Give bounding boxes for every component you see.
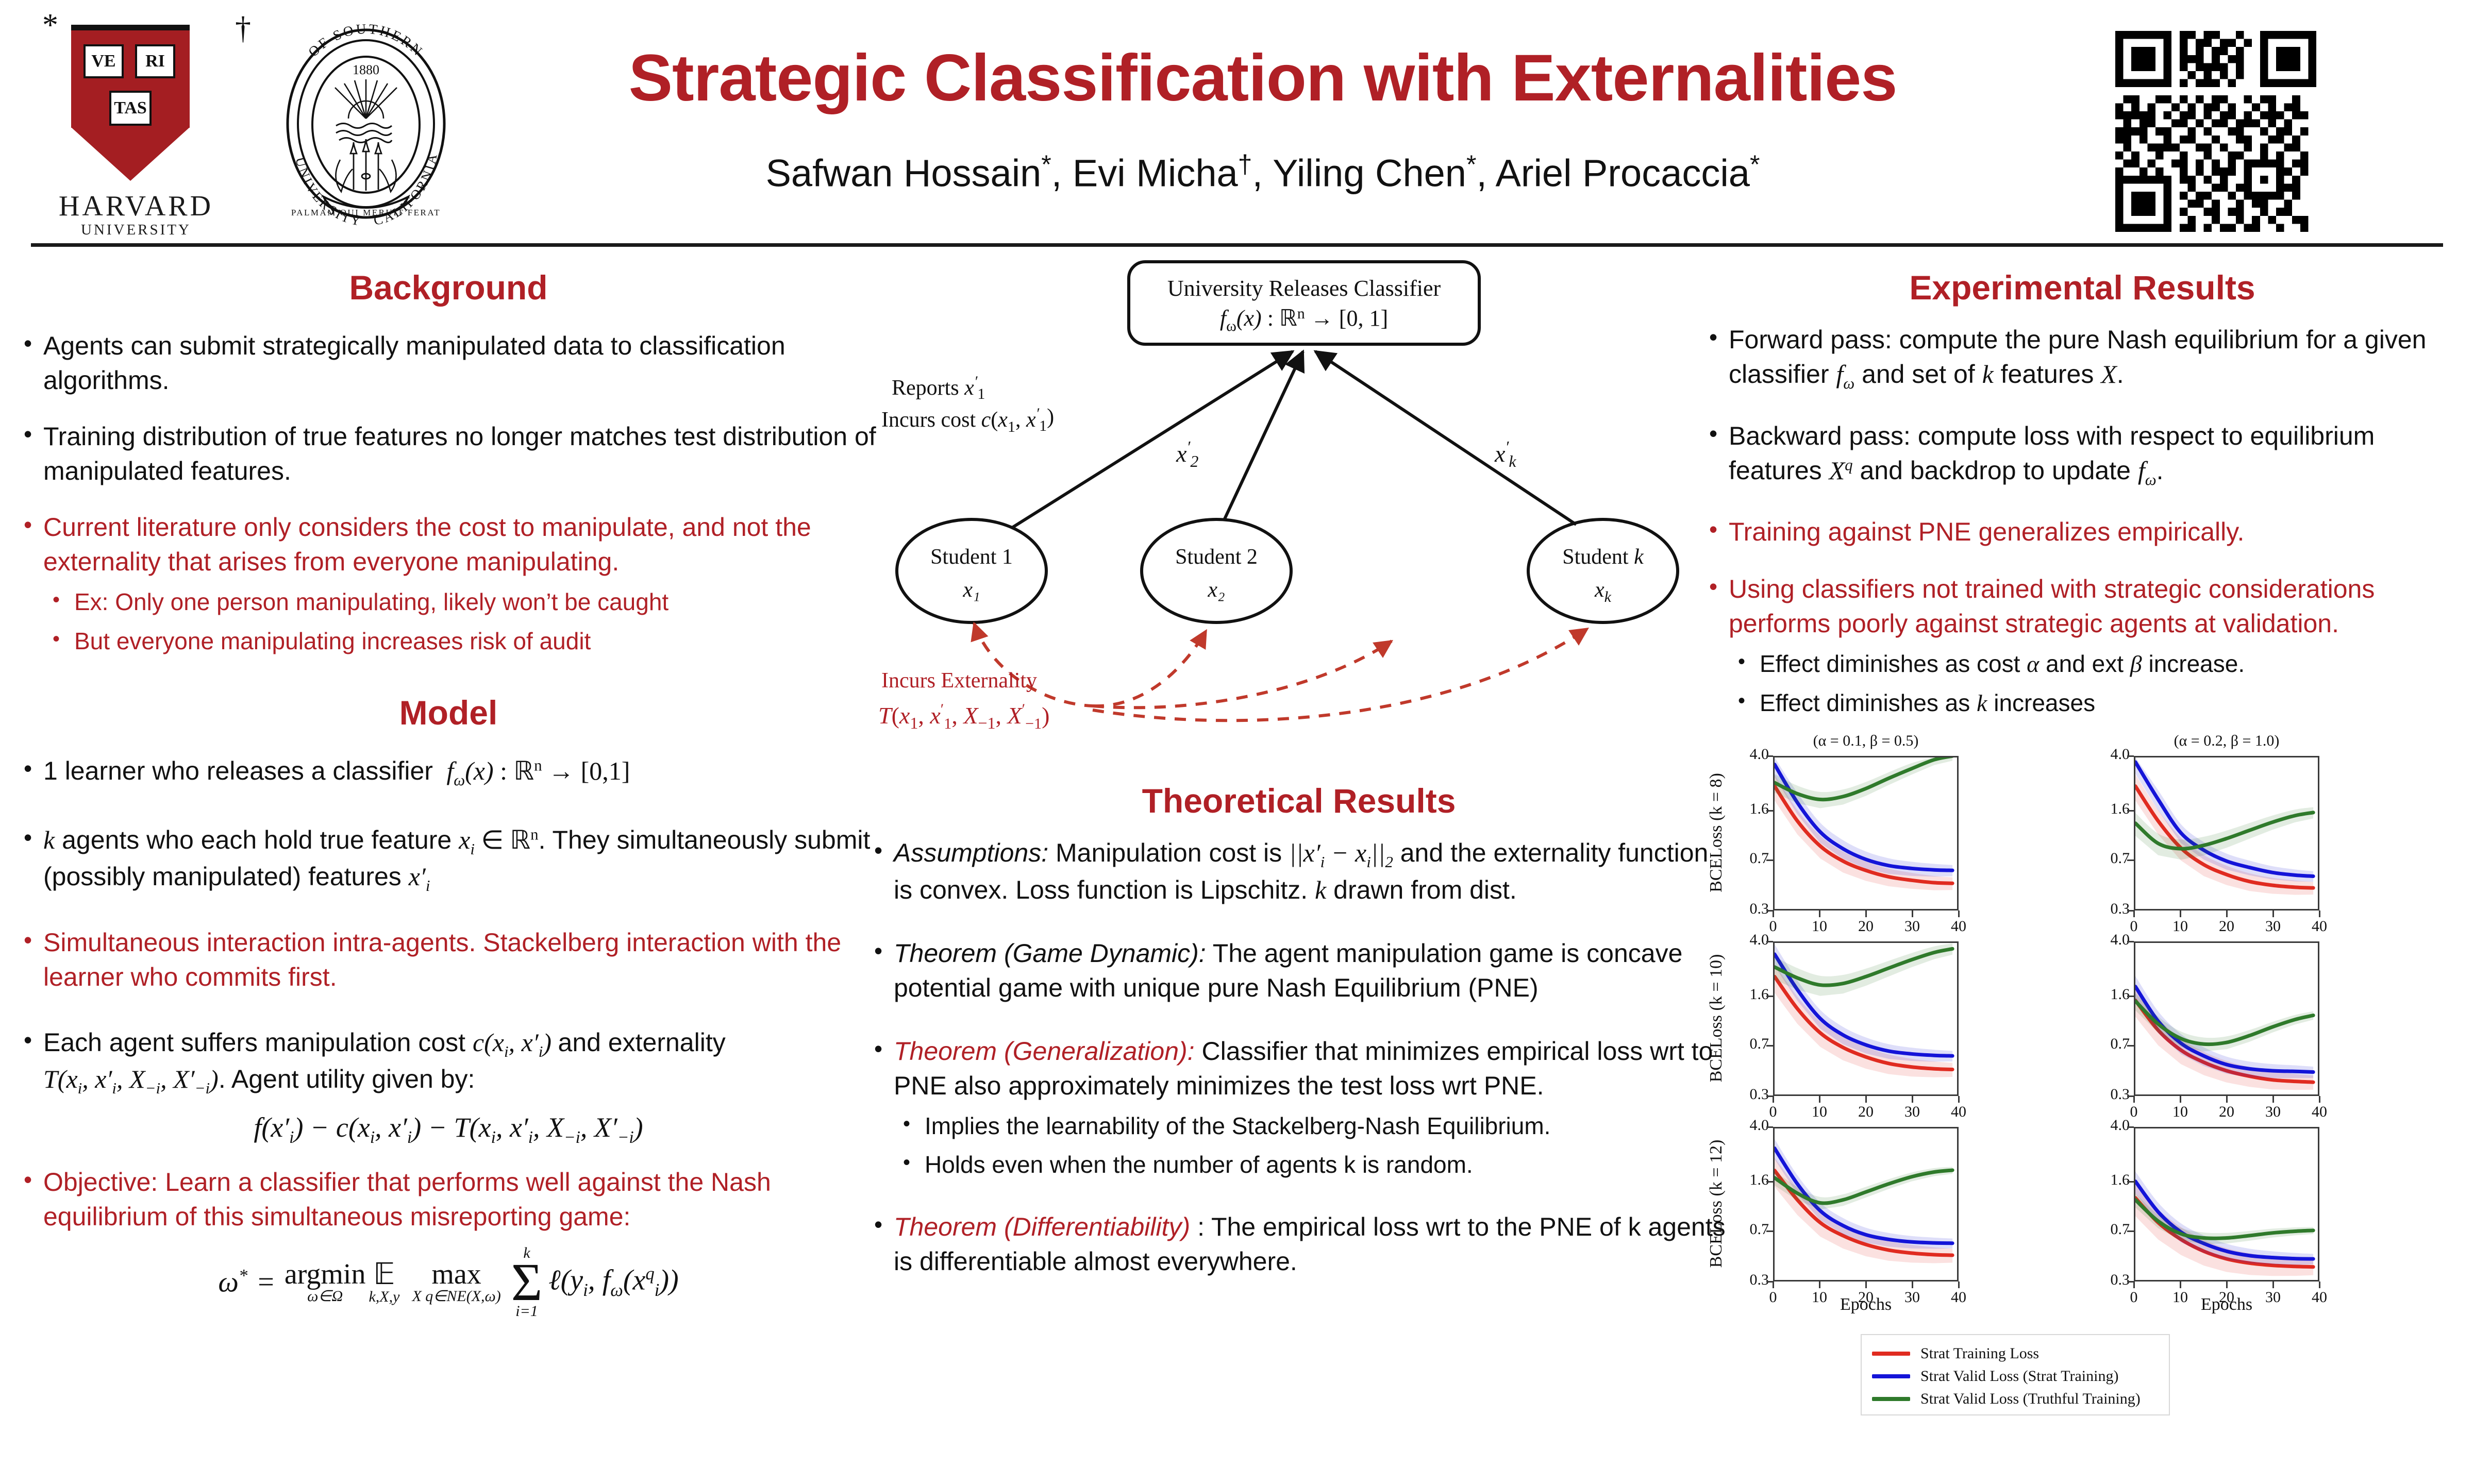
chart-series-svg: [2135, 943, 2318, 1094]
chart-plot-area: [2134, 756, 2319, 910]
model-b1-formula-tail: : ℝn → [0,1]: [494, 756, 630, 785]
chart-confidence-band: [1775, 943, 1952, 996]
exp-b1-text-2: and set of k features X.: [1854, 360, 2124, 389]
chart-ytick-label: 1.6: [2098, 800, 2130, 818]
theo-lead-differentiability: Theorem (Differentiability): [894, 1212, 1190, 1241]
chart-ylabel: BCELoss (k = 12): [1707, 1126, 1726, 1281]
chart-ytick-mark: [1766, 1230, 1773, 1232]
chart-xtick-mark: [1819, 910, 1820, 917]
objective-argmin-word: argmin: [285, 1260, 366, 1289]
chart-xtick-mark: [2133, 1096, 2135, 1103]
harvard-subwordmark: UNIVERSITY: [54, 222, 219, 239]
chart-xtick-label: 20: [2211, 1103, 2242, 1121]
model-b2-rn: ∈ ℝn: [475, 825, 539, 854]
chart-plot-area: [2134, 941, 2319, 1096]
chart-ytick-mark: [2127, 1126, 2134, 1128]
chart-xtick-label: 0: [1758, 1289, 1788, 1306]
chart-series-svg: [2135, 1128, 2318, 1280]
objective-argmin-sub: ω∈Ω: [307, 1289, 343, 1304]
chart-xtick-label: 30: [2258, 918, 2288, 935]
externality-label-line-2: T(x1, x′1, X−1, X′−1): [878, 701, 1049, 732]
agent-utility-formula: f(x′i) − c(xi, x′i) − T(xi, x′i, X−i, X′…: [21, 1111, 876, 1148]
header-divider: [31, 243, 2443, 247]
student-k-label: Student k: [1562, 545, 1644, 569]
chart-xtick-label: 0: [2118, 1289, 2149, 1306]
qr-code[interactable]: [2115, 31, 2316, 232]
legend-swatch-strat-training-loss: [1872, 1352, 1910, 1356]
qr-code-svg: [2115, 31, 2316, 232]
list-item: Training against PNE generalizes empiric…: [1706, 515, 2459, 549]
chart-xtick-mark: [2272, 1096, 2274, 1103]
list-item: k agents who each hold true feature xi ∈…: [21, 823, 876, 897]
chart-ytick-label: 1.6: [1737, 986, 1769, 1003]
list-item: Agents can submit strategically manipula…: [21, 329, 876, 398]
chart-xtick-label: 30: [1897, 1289, 1928, 1306]
objective-expectation: 𝔼 k,X,y: [369, 1259, 399, 1305]
chart-xtick-mark: [2272, 1281, 2274, 1288]
chart-xtick-label: 40: [2304, 918, 2335, 935]
shield-book-tas: TAS: [109, 91, 152, 126]
chart-ytick-label: 0.7: [2098, 1035, 2130, 1053]
chart-series-svg: [1775, 1128, 1957, 1280]
legend-swatch-strat-valid-loss-strat: [1872, 1374, 1910, 1378]
model-b4-pre: Each agent suffers manipulation cost: [43, 1028, 465, 1057]
chart-confidence-band: [1775, 757, 1952, 808]
list-item: Backward pass: compute loss with respect…: [1706, 419, 2459, 491]
poster-canvas: * † VE RI TAS HARVARD UNIVERSITY: [0, 0, 2474, 1484]
model-b4-ext: T(xi, x′i, X−i, X′−i): [43, 1065, 219, 1093]
shield-book-ve: VE: [83, 44, 124, 78]
objective-sigma-symbol: Σ: [511, 1261, 543, 1304]
chart-xtick-mark: [1912, 1096, 1913, 1103]
model-b2-xi: xi: [459, 825, 475, 854]
chart-ytick-mark: [2127, 859, 2134, 861]
chart-xtick-mark: [1865, 1096, 1867, 1103]
chart-ytick-label: 0.3: [1737, 900, 1769, 918]
chart-ytick-label: 0.7: [1737, 1221, 1769, 1238]
exp-b2-text-2: and backdrop to update fω.: [1853, 456, 2164, 485]
author-list: Safwan Hossain*, Evi Micha†, Yiling Chen…: [582, 149, 1943, 195]
chart-xtick-mark: [1773, 910, 1774, 917]
chart-xtick-mark: [1865, 910, 1867, 917]
affiliation-dagger-marker: †: [235, 10, 251, 47]
chart-xtick-label: 10: [1804, 1103, 1835, 1121]
chart-ytick-label: 4.0: [2098, 931, 2130, 949]
page-title: Strategic Classification with Externalit…: [582, 40, 1943, 116]
model-bullet-list: 1 learner who releases a classifier fω(x…: [21, 754, 876, 1319]
student-1-label: Student 1: [930, 545, 1013, 569]
exp-b1-f: fω: [1836, 360, 1854, 389]
list-item: Objective: Learn a classifier that perfo…: [21, 1165, 876, 1234]
chart-ytick-mark: [1766, 941, 1773, 942]
chart-xtick-label: 20: [1850, 1103, 1881, 1121]
objective-summation: k Σ i=1: [511, 1245, 543, 1319]
theo-text-assumptions: Manipulation cost is: [1056, 838, 1289, 867]
student-node-1: [897, 519, 1046, 622]
objective-omega-star: ω*: [218, 1266, 247, 1299]
objective-expectation-sub: k,X,y: [369, 1289, 399, 1305]
middle-column: University Releases Classifier fω(x) : ℝ…: [871, 268, 1727, 1301]
chart-ytick-label: 4.0: [1737, 746, 1769, 763]
list-item: Current literature only considers the co…: [21, 510, 876, 579]
section-title-model: Model: [21, 693, 876, 732]
chart-ytick-label: 4.0: [2098, 1117, 2130, 1134]
model-b4-cost: c(xi, x′i): [473, 1028, 558, 1057]
list-item: Theorem (Game Dynamic): The agent manipu…: [871, 936, 1727, 1005]
chart-title-col1: (α = 0.1, β = 0.5): [1773, 732, 1959, 750]
list-item: Training distribution of true features n…: [21, 419, 876, 488]
chart-ytick-mark: [2127, 1230, 2134, 1232]
chart-xtick-mark: [2319, 1281, 2320, 1288]
chart-xtick-mark: [2133, 1281, 2135, 1288]
section-title-background: Background: [21, 268, 876, 307]
chart-xtick-label: 20: [1850, 918, 1881, 935]
chart-xtick-mark: [1819, 1096, 1820, 1103]
objective-max-sub: X q∈NE(X,ω): [412, 1289, 500, 1304]
usc-seal-svg: OF SOUTHERN UNIVERSITY CALIFORNIA 1880: [258, 15, 474, 237]
chart-xtick-label: 40: [2304, 1103, 2335, 1121]
student-2-label: Student 2: [1175, 545, 1258, 569]
chart-xtick-mark: [2180, 910, 2181, 917]
chart-ytick-label: 0.3: [1737, 1086, 1769, 1103]
theo-lead-generalization: Theorem (Generalization):: [894, 1037, 1195, 1066]
chart-xtick-mark: [2319, 910, 2320, 917]
chart-xtick-mark: [1773, 1281, 1774, 1288]
background-bullet-list: Agents can submit strategically manipula…: [21, 329, 876, 657]
exp-b2-xq: Xq: [1829, 456, 1853, 485]
chart-ytick-mark: [2127, 941, 2134, 942]
classifier-node-label-1: University Releases Classifier: [1167, 276, 1441, 301]
chart-xtick-label: 40: [1943, 918, 1974, 935]
chart-series-svg: [1775, 943, 1957, 1094]
shield-book-ri: RI: [135, 44, 175, 78]
list-item: Effect diminishes as cost α and ext β in…: [1706, 648, 2459, 680]
chart-title-col2: (α = 0.2, β = 1.0): [2134, 732, 2319, 750]
chart-ytick-label: 1.6: [1737, 1171, 1769, 1189]
externality-arrow-group: [974, 623, 1587, 720]
section-title-theoretical: Theoretical Results: [871, 781, 1727, 820]
objective-max: max X q∈NE(X,ω): [412, 1260, 500, 1304]
edge-student2-to-classifier: [1225, 351, 1303, 519]
chart-plot-area: [1773, 756, 1959, 910]
chart-xtick-mark: [1819, 1281, 1820, 1288]
chart-ytick-label: 0.7: [1737, 1035, 1769, 1053]
model-b4-mid: and externality: [558, 1028, 726, 1057]
chart-xtick-mark: [2180, 1096, 2181, 1103]
chart-ytick-label: 0.3: [1737, 1271, 1769, 1289]
list-item: Effect diminishes as k increases: [1706, 687, 2459, 719]
chart-xtick-mark: [2180, 1281, 2181, 1288]
chart-xtick-label: 30: [1897, 1103, 1928, 1121]
theo-lead-assumptions: Assumptions:: [894, 838, 1048, 867]
list-item: Holds even when the number of agents k i…: [871, 1149, 1727, 1181]
chart-ytick-mark: [1766, 755, 1773, 757]
chart-ytick-label: 0.3: [2098, 900, 2130, 918]
model-b4-post: . Agent utility given by:: [219, 1065, 475, 1093]
edge-student1-to-classifier: [1011, 351, 1293, 528]
list-item: Each agent suffers manipulation cost c(x…: [21, 1025, 876, 1099]
edge-label-xkprime: x′k: [1494, 437, 1516, 470]
chart-ytick-label: 0.3: [2098, 1271, 2130, 1289]
list-item: Forward pass: compute the pure Nash equi…: [1706, 323, 2459, 394]
model-b2-mid: agents who each hold true feature: [62, 825, 452, 854]
chart-ytick-mark: [2127, 755, 2134, 757]
chart-xtick-label: 10: [2165, 1289, 2196, 1306]
chart-ytick-mark: [2127, 810, 2134, 812]
chart-xtick-mark: [1958, 910, 1960, 917]
chart-xtick-label: 10: [2165, 918, 2196, 935]
poster-header: * † VE RI TAS HARVARD UNIVERSITY: [0, 0, 2474, 246]
legend-label: Strat Valid Loss (Truthful Training): [1920, 1390, 2141, 1408]
legend-entry: Strat Valid Loss (Truthful Training): [1872, 1388, 2159, 1410]
usc-seal-logo: OF SOUTHERN UNIVERSITY CALIFORNIA 1880: [258, 15, 474, 237]
usc-year-label: 1880: [353, 62, 379, 77]
chart-xtick-label: 40: [2304, 1289, 2335, 1306]
harvard-logo: VE RI TAS: [71, 25, 200, 179]
chart-xtick-label: 30: [2258, 1289, 2288, 1306]
chart-ytick-label: 4.0: [1737, 931, 1769, 949]
chart-ytick-label: 1.6: [2098, 1171, 2130, 1189]
chart-xtick-label: 20: [1850, 1289, 1881, 1306]
report-label-line-2: Incurs cost c(x1, x′1): [881, 405, 1054, 435]
chart-xtick-label: 40: [1943, 1103, 1974, 1121]
model-b2-xiprime: x′i: [409, 862, 430, 891]
chart-xtick-label: 10: [2165, 1103, 2196, 1121]
objective-max-word: max: [431, 1260, 481, 1289]
chart-ytick-label: 1.6: [2098, 986, 2130, 1003]
experimental-bullet-list: Forward pass: compute the pure Nash equi…: [1706, 323, 2459, 719]
model-diagram: University Releases Classifier fω(x) : ℝ…: [871, 257, 1727, 777]
chart-xtick-mark: [1865, 1281, 1867, 1288]
externality-label-line-1: Incurs Externality: [881, 669, 1037, 693]
list-item: Simultaneous interaction intra-agents. S…: [21, 925, 876, 994]
chart-xtick-label: 10: [1804, 1289, 1835, 1306]
theo-norm-formula: ||x′i − xi||2: [1289, 838, 1393, 867]
chart-xtick-label: 30: [2258, 1103, 2288, 1121]
harvard-wordmark: HARVARD: [54, 190, 219, 223]
chart-ytick-label: 4.0: [2098, 746, 2130, 763]
student-node-2: [1142, 519, 1291, 622]
chart-ytick-label: 0.7: [2098, 850, 2130, 867]
model-diagram-svg: University Releases Classifier fω(x) : ℝ…: [871, 257, 1727, 777]
list-item: Assumptions: Manipulation cost is ||x′i …: [871, 836, 1727, 907]
chart-plot-area: [1773, 1127, 1959, 1281]
chart-xtick-label: 40: [1943, 1289, 1974, 1306]
list-item: Using classifiers not trained with strat…: [1706, 572, 2459, 641]
experiment-chart-grid: (α = 0.1, β = 0.5) (α = 0.2, β = 1.0) Ep…: [1706, 732, 2459, 1418]
chart-ytick-label: 1.6: [1737, 800, 1769, 818]
affiliation-star-marker: *: [42, 7, 58, 44]
chart-ytick-mark: [2127, 996, 2134, 997]
chart-xtick-mark: [1958, 1096, 1960, 1103]
harvard-shield: VE RI TAS: [71, 25, 190, 160]
chart-xtick-label: 20: [2211, 918, 2242, 935]
chart-ytick-mark: [1766, 810, 1773, 812]
legend-label: Strat Training Loss: [1920, 1345, 2039, 1362]
chart-xtick-mark: [1912, 1281, 1913, 1288]
edge-studentk-to-classifier: [1315, 351, 1576, 525]
edge-label-x2prime: x′2: [1176, 437, 1198, 470]
legend-swatch-strat-valid-loss-truthful: [1872, 1397, 1910, 1401]
chart-ytick-label: 0.3: [2098, 1086, 2130, 1103]
list-item: But everyone manipulating increases risk…: [21, 626, 876, 657]
chart-xtick-mark: [1773, 1096, 1774, 1103]
chart-ytick-mark: [1766, 1181, 1773, 1183]
right-column: Experimental Results Forward pass: compu…: [1706, 268, 2459, 1418]
objective-argmin: argmin ω∈Ω: [285, 1260, 366, 1304]
chart-xtick-mark: [2133, 910, 2135, 917]
model-b2-k: k: [43, 825, 55, 854]
chart-ytick-mark: [1766, 1126, 1773, 1128]
list-item: 1 learner who releases a classifier fω(x…: [21, 754, 876, 791]
student-node-k: [1528, 519, 1678, 622]
chart-plot-area: [2134, 1127, 2319, 1281]
chart-ytick-label: 0.7: [1737, 850, 1769, 867]
chart-series-svg: [2135, 757, 2318, 909]
objective-sigma-bottom: i=1: [515, 1304, 538, 1319]
model-b1-text: 1 learner who releases a classifier: [43, 756, 433, 785]
chart-ytick-label: 4.0: [1737, 1117, 1769, 1134]
chart-xtick-mark: [2319, 1096, 2320, 1103]
chart-xtick-label: 30: [1897, 918, 1928, 935]
chart-ytick-mark: [2127, 1045, 2134, 1047]
chart-xtick-label: 20: [2211, 1289, 2242, 1306]
list-item: Implies the learnability of the Stackelb…: [871, 1110, 1727, 1142]
legend-entry: Strat Training Loss: [1872, 1342, 2159, 1365]
chart-xtick-mark: [1958, 1281, 1960, 1288]
list-item: Ex: Only one person manipulating, likely…: [21, 586, 876, 618]
objective-expectation-symbol: 𝔼: [373, 1259, 395, 1289]
chart-ytick-label: 0.7: [2098, 1221, 2130, 1238]
legend-label: Strat Valid Loss (Strat Training): [1920, 1368, 2118, 1385]
chart-xtick-mark: [1912, 910, 1913, 917]
chart-ylabel: BCELoss (k = 10): [1707, 941, 1726, 1095]
model-b1-formula: fω(x): [440, 756, 494, 785]
chart-xtick-mark: [2226, 1096, 2228, 1103]
classifier-node-box: [1129, 262, 1479, 344]
objective-loss-term: ℓ(yi, fω(xqi)): [548, 1263, 678, 1301]
chart-ylabel: BCELoss (k = 8): [1707, 755, 1726, 910]
chart-legend: Strat Training Loss Strat Valid Loss (St…: [1861, 1334, 2170, 1415]
objective-equals: =: [250, 1266, 281, 1298]
objective-formula: ω* = argmin ω∈Ω 𝔼 k,X,y max X q∈NE(X,ω) …: [21, 1245, 876, 1319]
chart-series-svg: [1775, 757, 1957, 909]
chart-ytick-mark: [1766, 1045, 1773, 1047]
chart-ytick-mark: [2127, 1181, 2134, 1183]
theoretical-bullet-list: Assumptions: Manipulation cost is ||x′i …: [871, 836, 1727, 1279]
usc-motto-label: PALMAM QUI MERUIT FERAT: [291, 208, 441, 217]
shield-point: [71, 127, 190, 181]
chart-plot-area: [1773, 941, 1959, 1096]
chart-xtick-mark: [2226, 1281, 2228, 1288]
student-2-feature: x₂: [1207, 578, 1225, 602]
chart-xtick-mark: [2272, 910, 2274, 917]
chart-xtick-mark: [2226, 910, 2228, 917]
legend-entry: Strat Valid Loss (Strat Training): [1872, 1365, 2159, 1388]
chart-ytick-mark: [1766, 996, 1773, 997]
report-label-line-1: Reports x′1: [892, 373, 985, 402]
student-1-feature: x₁: [962, 578, 980, 602]
left-column: Background Agents can submit strategical…: [21, 268, 876, 1319]
section-title-experimental: Experimental Results: [1706, 268, 2459, 307]
list-item: Theorem (Differentiability) : The empiri…: [871, 1210, 1727, 1279]
list-item: Theorem (Generalization): Classifier tha…: [871, 1034, 1727, 1103]
chart-xtick-label: 10: [1804, 918, 1835, 935]
theo-lead-gamedynamic: Theorem (Game Dynamic):: [894, 939, 1206, 968]
chart-ytick-mark: [1766, 859, 1773, 861]
